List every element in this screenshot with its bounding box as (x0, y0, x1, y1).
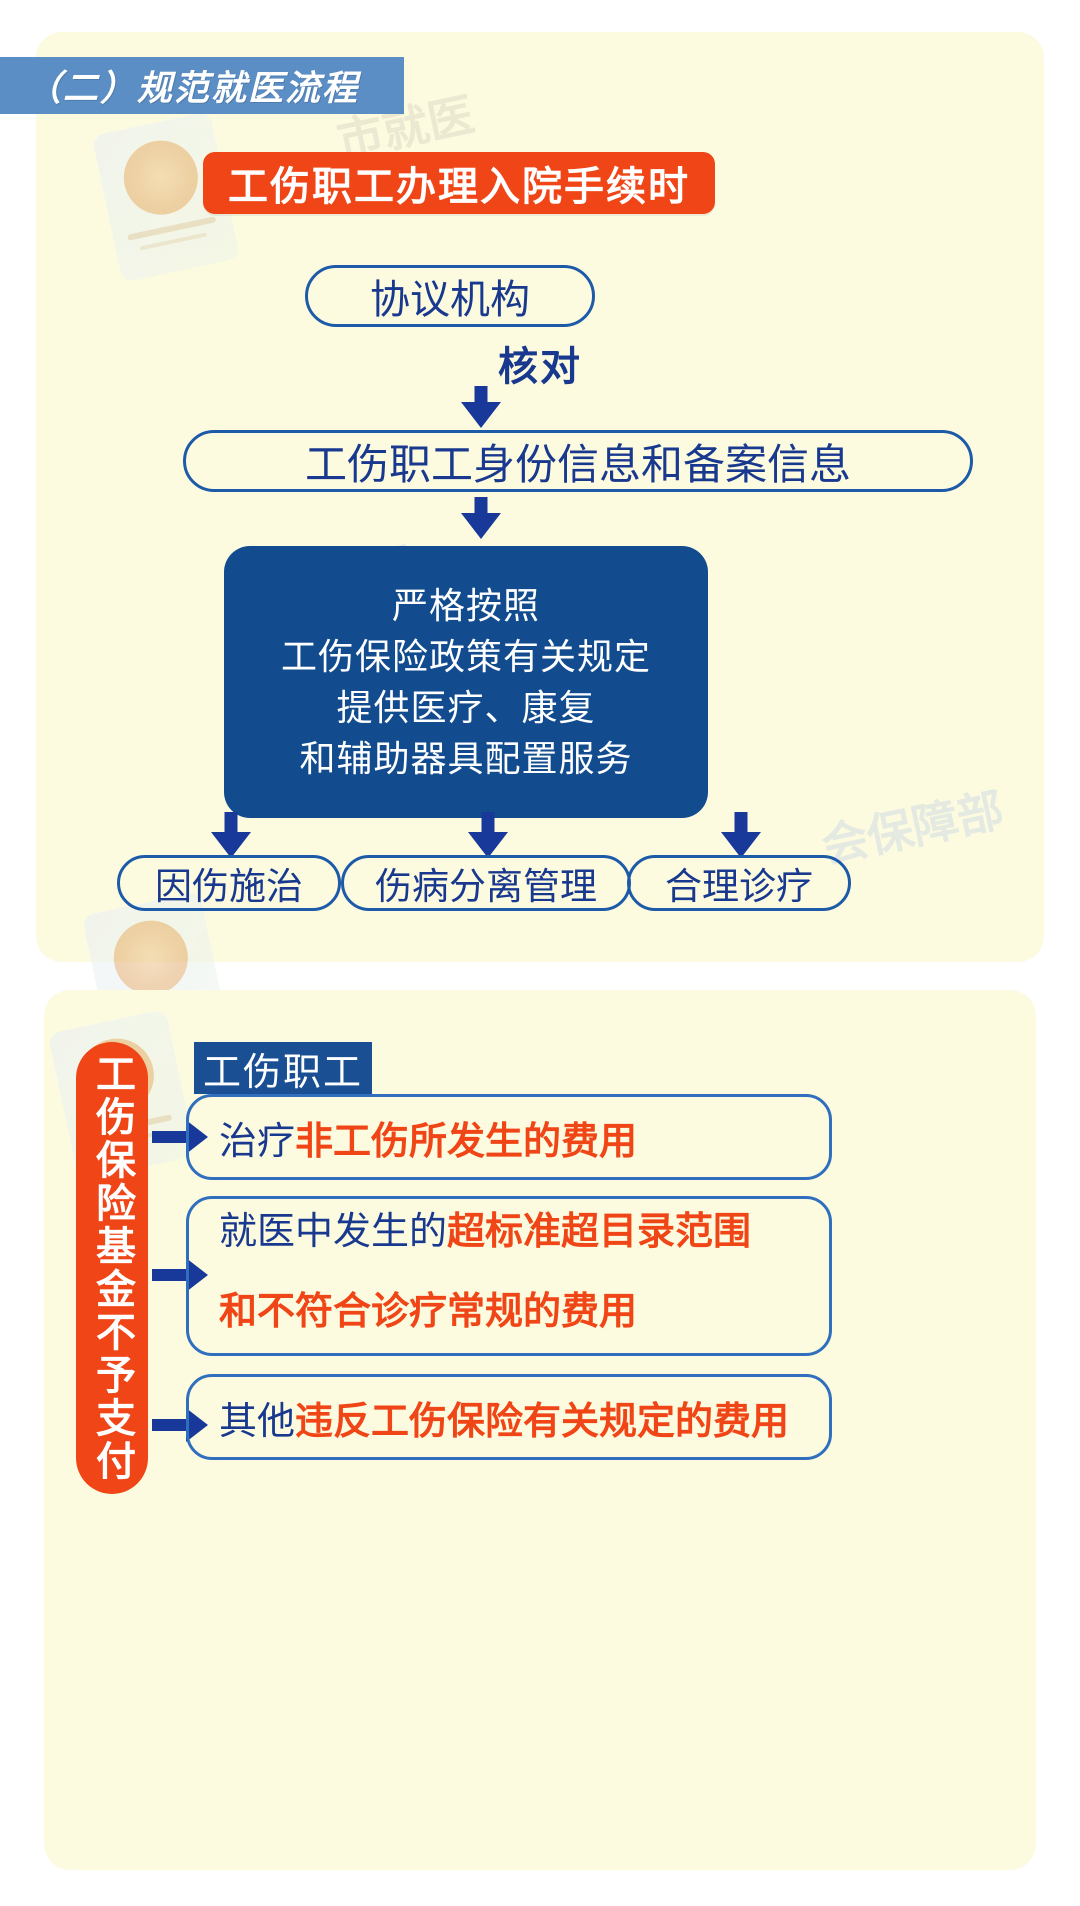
outcome-label: 合理诊疗 (665, 856, 813, 910)
flow-title-label: 工伤职工办理入院手续时 (228, 154, 690, 212)
exclusion-line: 治疗非工伤所发生的费用 (219, 1110, 637, 1165)
exclusion-item: 治疗非工伤所发生的费用 (186, 1094, 832, 1180)
verb-label: 核对 (0, 334, 1080, 392)
fund-no-payment-label: 工伤保险基金不予支付 (76, 1042, 148, 1494)
identity-info-pill: 工伤职工身份信息和备案信息 (183, 430, 973, 492)
watermark-line (140, 232, 207, 250)
arrow-down-icon (461, 497, 501, 541)
emphasis-text: 非工伤所发生的费用 (295, 1121, 637, 1163)
arrow-down-icon (721, 812, 761, 858)
outcome-label: 伤病分离管理 (375, 856, 597, 910)
emphasis-text: 和不符合诊疗常规的费用 (219, 1291, 637, 1333)
flow-title-banner: 工伤职工办理入院手续时 (203, 152, 715, 214)
watermark-line (127, 216, 216, 241)
watermark-seal-icon (117, 134, 205, 222)
arrow-down-icon (461, 386, 501, 428)
identity-info-label: 工伤职工身份信息和备案信息 (305, 431, 851, 492)
watermark-seal-icon (107, 914, 195, 1002)
plain-text: 就医中发生的 (219, 1211, 447, 1253)
exclusion-item: 其他违反工伤保险有关规定的费用 (186, 1374, 832, 1460)
exclusion-text: 治疗非工伤所发生的费用 (219, 1110, 637, 1165)
outcome-label: 因伤施治 (155, 856, 303, 910)
subject-tag: 工伤职工 (194, 1042, 372, 1094)
service-line: 提供医疗、康复 (336, 682, 595, 733)
emphasis-text: 违反工伤保险有关规定的费用 (295, 1401, 789, 1443)
emphasis-text: 超标准超目录范围 (447, 1211, 751, 1253)
section-header-label: （二）规范就医流程 (26, 60, 359, 111)
exclusion-line: 就医中发生的超标准超目录范围 (219, 1196, 751, 1276)
arrow-down-icon (211, 812, 251, 858)
agency-pill-label: 协议机构 (370, 267, 530, 325)
service-line: 严格按照 (392, 580, 540, 631)
infographic-page: 市就医 人社 会保障部 （二）规范就医流程 工伤职工办理入院手续时 协议机构 核… (0, 0, 1080, 1906)
watermark-text-bottom: 会保障部 (815, 774, 1009, 877)
service-requirements-box: 严格按照 工伤保险政策有关规定 提供医疗、康复 和辅助器具配置服务 (224, 546, 708, 818)
exclusion-text: 就医中发生的超标准超目录范围和不符合诊疗常规的费用 (219, 1196, 751, 1356)
agency-pill: 协议机构 (305, 265, 595, 327)
plain-text: 其他 (219, 1401, 295, 1443)
service-line: 工伤保险政策有关规定 (281, 631, 651, 682)
exclusion-item: 就医中发生的超标准超目录范围和不符合诊疗常规的费用 (186, 1196, 832, 1356)
outcome-pill: 伤病分离管理 (341, 855, 631, 911)
service-line: 和辅助器具配置服务 (299, 733, 632, 784)
section-header: （二）规范就医流程 (0, 57, 404, 114)
exclusion-line: 其他违反工伤保险有关规定的费用 (219, 1390, 789, 1445)
arrow-down-icon (468, 812, 508, 858)
plain-text: 治疗 (219, 1121, 295, 1163)
outcome-pill: 因伤施治 (117, 855, 341, 911)
outcome-pill: 合理诊疗 (627, 855, 851, 911)
exclusion-text: 其他违反工伤保险有关规定的费用 (219, 1390, 789, 1445)
exclusion-line: 和不符合诊疗常规的费用 (219, 1276, 751, 1356)
subject-tag-label: 工伤职工 (203, 1041, 363, 1096)
fund-no-payment-text: 工伤保险基金不予支付 (92, 1053, 132, 1483)
